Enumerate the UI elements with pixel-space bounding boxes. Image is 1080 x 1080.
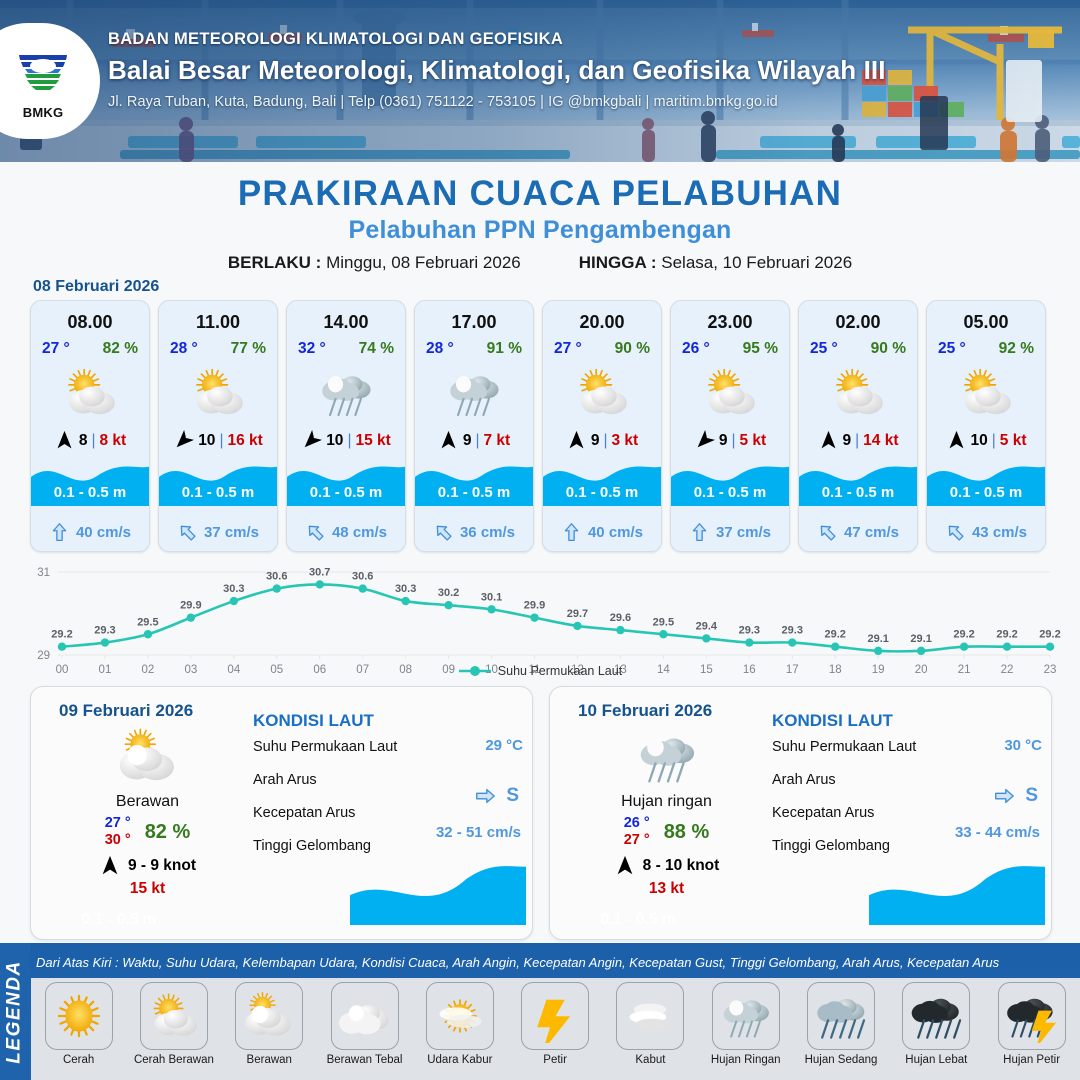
wave-height-label: Tinggi Gelombang [253, 838, 371, 854]
card-weather-icon [317, 362, 375, 424]
valid-to-label: HINGGA : [579, 253, 657, 272]
card-wave-height: 0.1 - 0.5 m [799, 484, 917, 501]
card-temperature: 25 ° [938, 340, 966, 358]
panel-date: 10 Februari 2026 [578, 701, 712, 721]
panel-date: 09 Februari 2026 [59, 701, 193, 721]
svg-text:29.2: 29.2 [51, 629, 72, 641]
panel-wave-height-value: 0.1 - 0.5 m [31, 911, 207, 929]
card-wind-separator: | [475, 432, 479, 450]
legend-icon-box [998, 982, 1066, 1050]
hujan-lebat-icon [909, 989, 963, 1043]
svg-text:29.3: 29.3 [782, 625, 803, 637]
legend-line-marker-icon [458, 665, 492, 677]
current-direction-row: Arah Arus S [253, 771, 525, 804]
legend-icon-box [235, 982, 303, 1050]
card-humidity: 82 % [103, 340, 138, 358]
hourly-forecast-card: 14.00 32 ° 74 % [286, 300, 406, 552]
legend-icon-box [807, 982, 875, 1050]
card-weather-icon [957, 362, 1015, 424]
card-current-speed: 43 cm/s [972, 524, 1027, 541]
card-humidity: 91 % [487, 340, 522, 358]
legend-item-label: Udara Kabur [412, 1054, 507, 1066]
card-weather-icon [701, 362, 759, 424]
bmkg-logo-text: BMKG [6, 105, 80, 120]
card-wind-row: 9 | 14 kt [799, 430, 917, 451]
card-temperature: 27 ° [42, 340, 70, 358]
legend-item-label: Hujan Petir [984, 1054, 1079, 1066]
hourly-forecast-card: 20.00 27 ° 90 % 9 | [542, 300, 662, 552]
petir-icon [528, 989, 582, 1043]
card-time: 05.00 [963, 312, 1008, 333]
card-weather-icon [61, 362, 119, 424]
hujan-ringan-icon [719, 989, 773, 1043]
valid-to-value: Selasa, 10 Februari 2026 [661, 253, 852, 272]
office-name: Balai Besar Meteorologi, Klimatologi, da… [108, 55, 886, 86]
panel-wind-range: 8 - 10 knot [643, 857, 720, 875]
panel-weather-icon [564, 725, 769, 789]
card-wind-speed: 9 [843, 432, 852, 450]
card-wind-gust: 14 kt [863, 432, 898, 450]
card-current-row: 36 cm/s [415, 522, 533, 543]
card-current-speed: 47 cm/s [844, 524, 899, 541]
sst-value: 30 °C [1004, 737, 1042, 754]
card-wind-row: 9 | 7 kt [415, 430, 533, 451]
legend-item: Udara Kabur [412, 982, 507, 1066]
card-current-speed: 48 cm/s [332, 524, 387, 541]
svg-text:29.7: 29.7 [567, 608, 588, 620]
svg-text:31: 31 [37, 567, 50, 579]
svg-text:29: 29 [37, 650, 50, 662]
card-wind-gust: 16 kt [227, 432, 262, 450]
current-direction-arrow-icon [689, 522, 710, 543]
card-wind-speed: 9 [591, 432, 600, 450]
wind-direction-arrow-icon [99, 855, 121, 877]
card-wave-height: 0.1 - 0.5 m [159, 484, 277, 501]
card-wind-gust: 15 kt [355, 432, 390, 450]
card-time: 17.00 [451, 312, 496, 333]
card-wind-speed: 9 [719, 432, 728, 450]
legend-item: Hujan Sedang [793, 982, 888, 1066]
validity-row: BERLAKU : Minggu, 08 Februari 2026 HINGG… [0, 253, 1080, 273]
berawan-icon [242, 989, 296, 1043]
wave-height-label: Tinggi Gelombang [772, 838, 890, 854]
svg-text:30.3: 30.3 [395, 583, 416, 595]
card-current-row: 40 cm/s [543, 522, 661, 543]
panel-temp-min: 27 ° [105, 815, 131, 832]
card-wind-separator: | [91, 432, 95, 450]
svg-text:30.6: 30.6 [352, 571, 373, 583]
card-current-row: 37 cm/s [159, 522, 277, 543]
card-wave-height: 0.1 - 0.5 m [671, 484, 789, 501]
wind-direction-arrow-icon [54, 430, 75, 451]
card-current-row: 48 cm/s [287, 522, 405, 543]
card-weather-icon [573, 362, 631, 424]
panel-humidity: 82 % [145, 821, 191, 844]
panel-wave-graphic [350, 863, 526, 925]
card-humidity: 90 % [615, 340, 650, 358]
card-wind-gust: 7 kt [483, 432, 510, 450]
card-humidity: 95 % [743, 340, 778, 358]
current-speed-row: Kecepatan Arus 33 - 44 cm/s [772, 804, 1044, 837]
card-weather-icon [829, 362, 887, 424]
cerah-berawan-icon [701, 364, 759, 422]
legend-icon-box [616, 982, 684, 1050]
svg-text:30.6: 30.6 [266, 571, 287, 583]
card-time: 02.00 [835, 312, 880, 333]
card-wind-speed: 8 [79, 432, 88, 450]
panel-wind-row: 8 - 10 knot [564, 855, 769, 877]
daily-forecast-panel: 09 Februari 2026 Berawan 27 ° 30 ° [30, 686, 533, 940]
port-name-subtitle: Pelabuhan PPN Pengambengan [0, 216, 1080, 245]
card-wave-height: 0.1 - 0.5 m [927, 484, 1045, 501]
hourly-forecast-card: 23.00 26 ° 95 % 9 | [670, 300, 790, 552]
card-current-row: 40 cm/s [31, 522, 149, 543]
wind-direction-arrow-icon [173, 430, 194, 451]
valid-from: BERLAKU : Minggu, 08 Februari 2026 [228, 253, 521, 273]
legend-note: Dari Atas Kiri : Waktu, Suhu Udara, Kele… [36, 955, 1076, 970]
current-direction-arrow-icon [49, 522, 70, 543]
card-time: 14.00 [323, 312, 368, 333]
legend-item: Berawan [222, 982, 317, 1066]
panel-humidity: 88 % [664, 821, 710, 844]
cerah-berawan-icon [573, 364, 631, 422]
panel-wind-gust: 15 kt [45, 880, 250, 898]
svg-text:29.9: 29.9 [524, 600, 545, 612]
svg-text:30.7: 30.7 [309, 566, 330, 578]
legend-icon-box [902, 982, 970, 1050]
panel-wind-gust: 13 kt [564, 880, 769, 898]
svg-text:29.1: 29.1 [867, 633, 888, 645]
card-wind-gust: 8 kt [99, 432, 126, 450]
wind-direction-arrow-icon [614, 855, 636, 877]
legend-item: Hujan Petir [984, 982, 1079, 1066]
card-wind-separator: | [855, 432, 859, 450]
current-direction-label: Arah Arus [253, 772, 317, 788]
card-wind-row: 9 | 3 kt [543, 430, 661, 451]
svg-text:29.3: 29.3 [94, 625, 115, 637]
udara-kabur-icon [433, 989, 487, 1043]
legend-item: Kabut [603, 982, 698, 1066]
cerah-berawan-icon [147, 989, 201, 1043]
card-wind-separator: | [219, 432, 223, 450]
card-temperature: 27 ° [554, 340, 582, 358]
sst-label: Suhu Permukaan Laut [772, 739, 916, 755]
current-speed-row: Kecepatan Arus 32 - 51 cm/s [253, 804, 525, 837]
card-wind-row: 10 | 15 kt [287, 430, 405, 451]
svg-text:29.2: 29.2 [953, 629, 974, 641]
daily-forecast-panel: 10 Februari 2026 Hujan ringan [549, 686, 1052, 940]
svg-text:30.1: 30.1 [481, 591, 502, 603]
legend-item-label: Berawan [222, 1054, 317, 1066]
current-direction-arrow-icon [305, 522, 326, 543]
card-wind-gust: 5 kt [1000, 432, 1027, 450]
legend-item: Berawan Tebal [317, 982, 412, 1066]
current-direction-arrow-icon [177, 522, 198, 543]
panel-sea-conditions: KONDISI LAUT Suhu Permukaan Laut 29 °C A… [253, 711, 525, 870]
wind-direction-arrow-icon [301, 430, 322, 451]
card-current-speed: 40 cm/s [588, 524, 643, 541]
card-wind-speed: 10 [326, 432, 343, 450]
valid-from-label: BERLAKU : [228, 253, 322, 272]
wind-direction-arrow-icon [946, 430, 967, 451]
card-wave-height: 0.1 - 0.5 m [415, 484, 533, 501]
current-speed-label: Kecepatan Arus [253, 805, 355, 821]
panel-temps-row: 27 ° 30 ° 82 % [45, 815, 250, 849]
svg-text:29.2: 29.2 [825, 629, 846, 641]
card-temperature: 25 ° [810, 340, 838, 358]
panel-temps-row: 26 ° 27 ° 88 % [564, 815, 769, 849]
card-current-row: 47 cm/s [799, 522, 917, 543]
card-time: 23.00 [707, 312, 752, 333]
legend-item-label: Berawan Tebal [317, 1054, 412, 1066]
card-time: 11.00 [196, 312, 240, 333]
svg-text:29.4: 29.4 [696, 620, 718, 632]
legend-item-label: Hujan Sedang [793, 1054, 888, 1066]
hourly-forecast-card: 02.00 25 ° 90 % 9 | [798, 300, 918, 552]
card-wind-row: 10 | 5 kt [927, 430, 1045, 451]
legend-side-label: LEGENDA [4, 960, 26, 1063]
chart-series-name: Suhu Permukaan Laut [498, 664, 622, 678]
legend-icon-box [45, 982, 113, 1050]
svg-text:29.6: 29.6 [610, 612, 631, 624]
sst-row: Suhu Permukaan Laut 29 °C [253, 738, 525, 771]
hourly-forecast-row: 08.00 27 ° 82 % 8 | [30, 300, 1052, 552]
panel-left-column: Hujan ringan 26 ° 27 ° 88 % 8 - 10 knot … [564, 725, 769, 898]
legend-icon-box [140, 982, 208, 1050]
card-wind-gust: 3 kt [611, 432, 638, 450]
legend-item-label: Petir [507, 1054, 602, 1066]
hourly-forecast-card: 17.00 28 ° 91 % [414, 300, 534, 552]
legend-icon-box [712, 982, 780, 1050]
page-header: BMKG BADAN METEOROLOGI KLIMATOLOGI DAN G… [0, 0, 1080, 162]
legend-item-label: Cerah [31, 1054, 126, 1066]
legend-icon-box [521, 982, 589, 1050]
panel-wind-range: 9 - 9 knot [128, 857, 196, 875]
current-direction-arrow-icon [561, 522, 582, 543]
card-wind-speed: 9 [463, 432, 472, 450]
svg-text:29.2: 29.2 [1039, 629, 1060, 641]
cerah-berawan-icon [189, 364, 247, 422]
svg-text:30.2: 30.2 [438, 587, 459, 599]
current-direction-arrow-icon [817, 522, 838, 543]
sea-conditions-title: KONDISI LAUT [253, 711, 525, 731]
legend-item: Cerah Berawan [126, 982, 221, 1066]
current-speed-label: Kecepatan Arus [772, 805, 874, 821]
card-current-speed: 37 cm/s [204, 524, 259, 541]
card-humidity: 92 % [999, 340, 1034, 358]
card-temperature: 28 ° [170, 340, 198, 358]
wind-direction-arrow-icon [818, 430, 839, 451]
card-humidity: 77 % [231, 340, 266, 358]
card-wave-height: 0.1 - 0.5 m [543, 484, 661, 501]
cerah-icon [52, 989, 106, 1043]
hujan-sedang-icon [814, 989, 868, 1043]
legend-item-label: Hujan Lebat [889, 1054, 984, 1066]
legend-item: Petir [507, 982, 602, 1066]
wave-graphic-icon [869, 863, 1045, 925]
legend-side-tab: LEGENDA [0, 943, 30, 1080]
sea-conditions-title: KONDISI LAUT [772, 711, 1044, 731]
svg-text:29.5: 29.5 [137, 616, 158, 628]
svg-text:29.1: 29.1 [910, 633, 931, 645]
card-weather-icon [189, 362, 247, 424]
card-wind-speed: 10 [198, 432, 215, 450]
legend-icon-strip: Cerah Cerah Berawan [31, 978, 1080, 1080]
legend-icon-box [331, 982, 399, 1050]
card-temperature: 26 ° [682, 340, 710, 358]
valid-from-value: Minggu, 08 Februari 2026 [326, 253, 521, 272]
cerah-berawan-icon [829, 364, 887, 422]
card-wind-row: 10 | 16 kt [159, 430, 277, 451]
svg-text:29.2: 29.2 [996, 629, 1017, 641]
sst-value: 29 °C [485, 737, 523, 754]
card-time: 08.00 [67, 312, 112, 333]
card-wind-row: 8 | 8 kt [31, 430, 149, 451]
card-wave-height: 0.1 - 0.5 m [287, 484, 405, 501]
cerah-berawan-icon [957, 364, 1015, 422]
card-wind-row: 9 | 5 kt [671, 430, 789, 451]
card-humidity: 74 % [359, 340, 394, 358]
card-current-speed: 36 cm/s [460, 524, 515, 541]
current-direction-label: Arah Arus [772, 772, 836, 788]
sst-row: Suhu Permukaan Laut 30 °C [772, 738, 1044, 771]
hourly-forecast-card: 11.00 28 ° 77 % 10 | [158, 300, 278, 552]
panel-weather-icon [45, 725, 250, 789]
card-wind-separator: | [731, 432, 735, 450]
svg-text:29.9: 29.9 [180, 600, 201, 612]
wind-direction-arrow-icon [566, 430, 587, 451]
card-temperature: 28 ° [426, 340, 454, 358]
cerah-berawan-icon [61, 364, 119, 422]
svg-text:29.3: 29.3 [739, 625, 760, 637]
card-wind-speed: 10 [971, 432, 988, 450]
hourly-forecast-card: 08.00 27 ° 82 % 8 | [30, 300, 150, 552]
hujan-ringan-icon [635, 725, 699, 789]
panel-sea-conditions: KONDISI LAUT Suhu Permukaan Laut 30 °C A… [772, 711, 1044, 870]
legend-item-label: Kabut [603, 1054, 698, 1066]
hujan-ringan-icon [317, 364, 375, 422]
svg-text:30.3: 30.3 [223, 583, 244, 595]
panel-temp-min: 26 ° [624, 815, 650, 832]
card-weather-icon [445, 362, 503, 424]
valid-to: HINGGA : Selasa, 10 Februari 2026 [579, 253, 852, 273]
hujan-ringan-icon [445, 364, 503, 422]
card-current-row: 37 cm/s [671, 522, 789, 543]
panel-condition: Berawan [45, 793, 250, 811]
panel-condition: Hujan ringan [564, 793, 769, 811]
card-temperature: 32 ° [298, 340, 326, 358]
legend-item: Hujan Ringan [698, 982, 793, 1066]
wave-graphic-icon [350, 863, 526, 925]
legend-item-label: Hujan Ringan [698, 1054, 793, 1066]
wind-direction-arrow-icon [694, 430, 715, 451]
contact-info: Jl. Raya Tuban, Kuta, Badung, Bali | Tel… [108, 94, 886, 110]
legend-icon-box [426, 982, 494, 1050]
card-wave-height: 0.1 - 0.5 m [31, 484, 149, 501]
panel-temp-max: 27 ° [624, 832, 650, 849]
agency-name: BADAN METEOROLOGI KLIMATOLOGI DAN GEOFIS… [108, 30, 886, 49]
svg-text:29.5: 29.5 [653, 616, 674, 628]
legend-item: Cerah [31, 982, 126, 1066]
hujan-petir-icon [1005, 989, 1059, 1043]
card-wind-separator: | [347, 432, 351, 450]
kabut-icon [623, 989, 677, 1043]
card-wind-gust: 5 kt [739, 432, 766, 450]
chart-legend: Suhu Permukaan Laut [0, 664, 1080, 678]
hourly-forecast-card: 05.00 25 ° 92 % 10 | [926, 300, 1046, 552]
sst-label: Suhu Permukaan Laut [253, 739, 397, 755]
panel-wind-row: 9 - 9 knot [45, 855, 250, 877]
wind-direction-arrow-icon [438, 430, 459, 451]
panel-wave-height-value: 0.1 - 0.5 m [550, 911, 726, 929]
card-time: 20.00 [579, 312, 624, 333]
current-direction-row: Arah Arus S [772, 771, 1044, 804]
card-humidity: 90 % [871, 340, 906, 358]
card-current-row: 43 cm/s [927, 522, 1045, 543]
page-title: PRAKIRAAN CUACA PELABUHAN [0, 174, 1080, 214]
daily-forecast-panels: 09 Februari 2026 Berawan 27 ° 30 ° [30, 686, 1052, 940]
berawan-icon [116, 725, 180, 789]
legend-item-label: Cerah Berawan [126, 1054, 221, 1066]
card-wind-separator: | [992, 432, 996, 450]
card-current-speed: 37 cm/s [716, 524, 771, 541]
hourly-date-label: 08 Februari 2026 [33, 278, 159, 296]
bmkg-emblem-icon [13, 43, 73, 99]
panel-left-column: Berawan 27 ° 30 ° 82 % 9 - 9 knot 15 kt [45, 725, 250, 898]
current-direction-arrow-icon [945, 522, 966, 543]
berawan-tebal-icon [338, 989, 392, 1043]
card-wind-separator: | [603, 432, 607, 450]
current-direction-arrow-icon [433, 522, 454, 543]
legend-item: Hujan Lebat [889, 982, 984, 1066]
panel-wave-graphic [869, 863, 1045, 925]
card-current-speed: 40 cm/s [76, 524, 131, 541]
panel-temp-max: 30 ° [105, 832, 131, 849]
